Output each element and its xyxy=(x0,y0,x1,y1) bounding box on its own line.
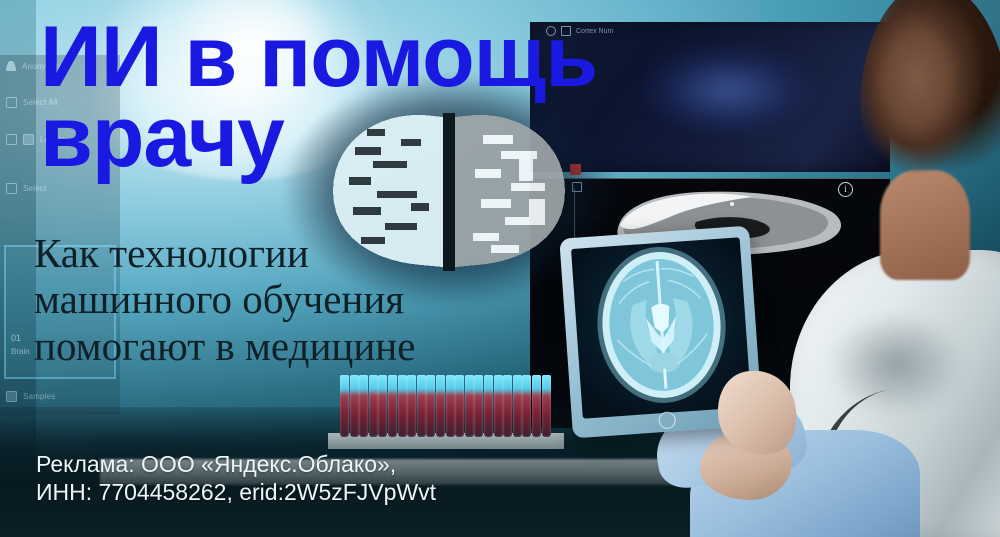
series-number: 01 xyxy=(11,333,21,343)
test-tube xyxy=(359,375,368,437)
sidebar-item-label: Samples xyxy=(23,392,56,401)
test-tube xyxy=(369,375,378,437)
layers-icon xyxy=(23,134,34,145)
series-label: Brain xyxy=(11,347,30,356)
test-tube xyxy=(503,375,512,437)
test-tube xyxy=(446,375,455,437)
test-tube xyxy=(407,375,416,437)
test-tube xyxy=(388,375,397,437)
test-tube xyxy=(398,375,407,437)
checkbox-icon[interactable] xyxy=(6,183,17,194)
test-tube xyxy=(378,375,387,437)
test-tube xyxy=(455,375,464,437)
checkbox-icon[interactable] xyxy=(6,134,17,145)
sidebar-item-label: Select xyxy=(23,184,46,193)
test-tube xyxy=(542,375,551,437)
page-title: ИИ в помощь врачу xyxy=(40,18,800,178)
test-tube xyxy=(522,375,531,437)
checkbox-icon[interactable] xyxy=(6,97,17,108)
test-tube-rack xyxy=(340,375,550,437)
person-icon xyxy=(6,61,16,71)
test-tube xyxy=(426,375,435,437)
test-tube xyxy=(340,375,349,437)
image-icon xyxy=(6,391,17,402)
sidebar-item-samples[interactable]: Samples xyxy=(0,385,62,408)
test-tube xyxy=(484,375,493,437)
test-tube xyxy=(494,375,503,437)
test-tube xyxy=(513,375,522,437)
advertising-banner: Cortex Num i i xyxy=(0,0,1000,537)
test-tube xyxy=(436,375,445,437)
page-subtitle: Как технологии машинного обучения помога… xyxy=(34,230,634,369)
advertising-disclaimer: Реклама: ООО «Яндекс.Облако», ИНН: 77044… xyxy=(36,450,596,506)
test-tube xyxy=(465,375,474,437)
test-tube xyxy=(350,375,359,437)
test-tube xyxy=(532,375,541,437)
test-tube xyxy=(474,375,483,437)
test-tube xyxy=(417,375,426,437)
tablet-home-button[interactable] xyxy=(658,411,676,429)
